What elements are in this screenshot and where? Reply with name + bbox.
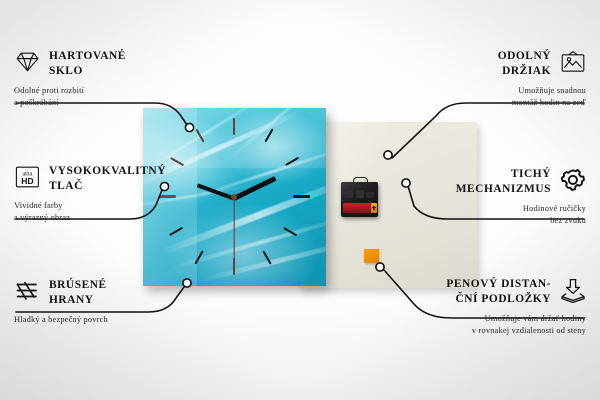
callout-head: PENOVÝ DISTAN- ČNÍ PODLOŽKY bbox=[378, 276, 586, 307]
callout-title: HARTOVANÉ SKLO bbox=[49, 48, 126, 79]
callout-foam-spacers[interactable]: PENOVÝ DISTAN- ČNÍ PODLOŽKY Umožňuje vám… bbox=[378, 276, 586, 337]
callout-title: PENOVÝ DISTAN- ČNÍ PODLOŽKY bbox=[446, 276, 551, 307]
callout-title: ODOLNÝ DRŽIAK bbox=[498, 48, 551, 79]
callout-description: Vividné farby a výrazný obraz bbox=[14, 197, 204, 224]
callout-title: BRÚSENÉ HRANY bbox=[49, 277, 107, 308]
callout-head: BRÚSENÉ HRANY bbox=[14, 277, 204, 308]
clock-tick bbox=[293, 195, 310, 198]
gear-icon bbox=[560, 167, 586, 193]
mechanism-hook bbox=[353, 177, 368, 185]
callout-high-quality-print[interactable]: ultra HD VYSOKOKVALITNÝ TLAČ Vividné far… bbox=[14, 163, 204, 224]
battery-positive-terminal bbox=[371, 203, 377, 213]
down-arrow-stack-icon bbox=[560, 277, 586, 303]
callout-head: TICHÝ MECHANIZMUS bbox=[396, 166, 586, 197]
callout-description: Umožňuje snadnou montáž hodin na zeď bbox=[396, 82, 586, 109]
aa-battery bbox=[343, 203, 374, 213]
product-infographic: HARTOVANÉ SKLO Odolné proti rozbití a po… bbox=[0, 0, 600, 400]
callout-description: Hodinové ručičky bez zvuku bbox=[396, 200, 586, 227]
callout-description: Hladký a bezpečný povrch bbox=[14, 311, 204, 326]
mechanism-detail bbox=[344, 191, 353, 198]
foam-distance-pad bbox=[364, 249, 379, 263]
mechanism-detail bbox=[366, 192, 374, 198]
mechanism-detail bbox=[356, 190, 364, 198]
ultra-hd-icon: ultra HD bbox=[14, 164, 40, 190]
ground-edges-icon bbox=[14, 278, 40, 304]
quartz-mechanism bbox=[341, 182, 378, 217]
callout-hardened-glass[interactable]: HARTOVANÉ SKLO Odolné proti rozbití a po… bbox=[14, 48, 204, 109]
diamond-icon bbox=[14, 49, 40, 75]
callout-title: TICHÝ MECHANIZMUS bbox=[456, 166, 551, 197]
callout-head: HARTOVANÉ SKLO bbox=[14, 48, 204, 79]
svg-text:HD: HD bbox=[21, 176, 33, 186]
callout-description: Umožňuje vám držať hodiny v rovnakej vzd… bbox=[378, 310, 586, 337]
picture-frame-icon bbox=[560, 49, 586, 75]
hands-center-cap bbox=[231, 194, 237, 200]
second-hand bbox=[233, 198, 234, 264]
callout-description: Odolné proti rozbití a poškrábání bbox=[14, 82, 204, 109]
callout-title: VYSOKOKVALITNÝ TLAČ bbox=[49, 163, 166, 194]
callout-head: ultra HD VYSOKOKVALITNÝ TLAČ bbox=[14, 163, 204, 194]
clock-tick bbox=[233, 118, 235, 135]
callout-ground-edges[interactable]: BRÚSENÉ HRANY Hladký a bezpečný povrch bbox=[14, 277, 204, 326]
callout-durable-holder[interactable]: ODOLNÝ DRŽIAK Umožňuje snadnou montáž ho… bbox=[396, 48, 586, 109]
callout-head: ODOLNÝ DRŽIAK bbox=[396, 48, 586, 79]
foam-pad-side bbox=[379, 251, 382, 265]
callout-silent-mechanism[interactable]: TICHÝ MECHANIZMUS Hodinové ručičky bez z… bbox=[396, 166, 586, 227]
